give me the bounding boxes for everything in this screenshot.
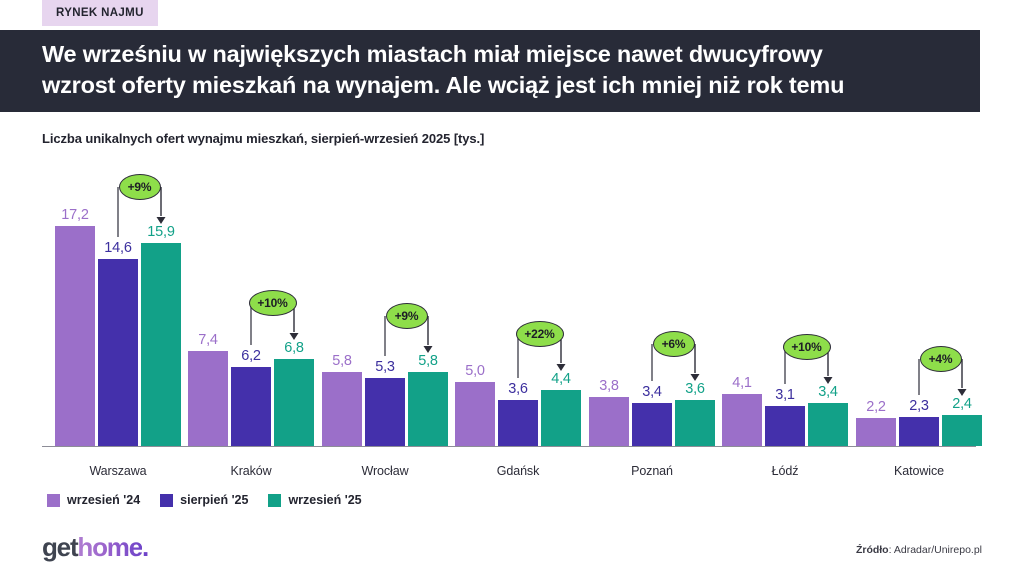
bar-column[interactable]: 5,0 bbox=[455, 194, 495, 446]
bar-value-label: 15,9 bbox=[141, 224, 181, 240]
bar[interactable] bbox=[899, 417, 939, 446]
legend-swatch-icon bbox=[160, 494, 173, 507]
legend-label: wrzesień '25 bbox=[288, 493, 361, 507]
bar-value-label: 17,2 bbox=[55, 207, 95, 223]
bar[interactable] bbox=[808, 403, 848, 446]
bar-value-label: 3,8 bbox=[589, 378, 629, 394]
bar-value-label: 2,3 bbox=[899, 398, 939, 414]
chart-subtitle: Liczba unikalnych ofert wynajmu mieszkań… bbox=[42, 131, 484, 146]
bar-column[interactable]: 3,6 bbox=[498, 194, 538, 446]
bar[interactable] bbox=[675, 400, 715, 446]
category-label: Poznań bbox=[589, 464, 715, 478]
bar-value-label: 4,1 bbox=[722, 375, 762, 391]
bar-value-label: 5,0 bbox=[455, 363, 495, 379]
bar-group: 5,85,35,8Wrocław bbox=[322, 194, 448, 446]
gethome-logo: gethome. bbox=[42, 532, 148, 563]
headline-line-2: wzrost oferty mieszkań na wynajem. Ale w… bbox=[42, 70, 938, 101]
bar[interactable] bbox=[455, 382, 495, 446]
bar-column[interactable]: 3,1 bbox=[765, 194, 805, 446]
bar-column[interactable]: 15,9 bbox=[141, 194, 181, 446]
bar-value-label: 3,4 bbox=[808, 384, 848, 400]
x-axis-line bbox=[42, 446, 976, 447]
bar-column[interactable]: 3,4 bbox=[808, 194, 848, 446]
bar-chart: 17,214,615,9Warszawa+9%7,46,26,8Kraków+1… bbox=[0, 160, 1024, 480]
bar-column[interactable]: 7,4 bbox=[188, 194, 228, 446]
bar-column[interactable]: 3,8 bbox=[589, 194, 629, 446]
headline-band: We wrześniu w największych miastach miał… bbox=[0, 30, 980, 112]
bar[interactable] bbox=[632, 403, 672, 446]
bar-value-label: 4,4 bbox=[541, 371, 581, 387]
bar[interactable] bbox=[141, 243, 181, 446]
category-label: Warszawa bbox=[55, 464, 181, 478]
source-value: : Adradar/Unirepo.pl bbox=[889, 544, 982, 556]
logo-home: home bbox=[77, 532, 142, 562]
bar[interactable] bbox=[856, 418, 896, 446]
category-label: Katowice bbox=[856, 464, 982, 478]
bar-group: 3,83,43,6Poznań bbox=[589, 194, 715, 446]
bar-column[interactable]: 5,3 bbox=[365, 194, 405, 446]
legend-swatch-icon bbox=[47, 494, 60, 507]
bar-value-label: 5,8 bbox=[322, 353, 362, 369]
legend-item[interactable]: wrzesień '24 bbox=[47, 493, 140, 507]
bar-column[interactable]: 14,6 bbox=[98, 194, 138, 446]
bar-value-label: 14,6 bbox=[98, 240, 138, 256]
bar-group-bars: 3,83,43,6 bbox=[589, 194, 715, 446]
bar[interactable] bbox=[188, 351, 228, 446]
bar[interactable] bbox=[498, 400, 538, 446]
bar-group-bars: 5,03,64,4 bbox=[455, 194, 581, 446]
category-label: Łódź bbox=[722, 464, 848, 478]
bar-value-label: 3,4 bbox=[632, 384, 672, 400]
bar-group: 17,214,615,9Warszawa bbox=[55, 194, 181, 446]
bar-group: 7,46,26,8Kraków bbox=[188, 194, 314, 446]
legend-label: wrzesień '24 bbox=[67, 493, 140, 507]
bar[interactable] bbox=[541, 390, 581, 446]
bar[interactable] bbox=[722, 394, 762, 446]
bar-column[interactable]: 5,8 bbox=[408, 194, 448, 446]
bar-value-label: 6,8 bbox=[274, 340, 314, 356]
bar-group-bars: 2,22,32,4 bbox=[856, 194, 982, 446]
bar-value-label: 5,3 bbox=[365, 359, 405, 375]
legend-item[interactable]: sierpień '25 bbox=[160, 493, 248, 507]
bar-group-bars: 17,214,615,9 bbox=[55, 194, 181, 446]
bar[interactable] bbox=[55, 226, 95, 446]
bar-column[interactable]: 17,2 bbox=[55, 194, 95, 446]
bar-value-label: 3,6 bbox=[498, 381, 538, 397]
bar-group-bars: 4,13,13,4 bbox=[722, 194, 848, 446]
source-note: Źródło: Adradar/Unirepo.pl bbox=[856, 544, 982, 556]
logo-dot: . bbox=[142, 532, 148, 562]
bar-value-label: 2,2 bbox=[856, 399, 896, 415]
bar[interactable] bbox=[231, 367, 271, 446]
category-tag: RYNEK NAJMU bbox=[42, 0, 158, 26]
bar-column[interactable]: 4,1 bbox=[722, 194, 762, 446]
infographic-root: RYNEK NAJMU We wrześniu w największych m… bbox=[0, 0, 1024, 576]
bar-column[interactable]: 2,2 bbox=[856, 194, 896, 446]
bar-column[interactable]: 2,3 bbox=[899, 194, 939, 446]
headline-line-1: We wrześniu w największych miastach miał… bbox=[42, 39, 938, 70]
bar-column[interactable]: 3,6 bbox=[675, 194, 715, 446]
category-label: Kraków bbox=[188, 464, 314, 478]
legend-label: sierpień '25 bbox=[180, 493, 248, 507]
bar-column[interactable]: 4,4 bbox=[541, 194, 581, 446]
bar-column[interactable]: 2,4 bbox=[942, 194, 982, 446]
source-label: Źródło bbox=[856, 544, 889, 556]
bar[interactable] bbox=[322, 372, 362, 446]
bar[interactable] bbox=[765, 406, 805, 446]
chart-legend: wrzesień '24sierpień '25wrzesień '25 bbox=[47, 493, 362, 507]
legend-swatch-icon bbox=[268, 494, 281, 507]
bar[interactable] bbox=[589, 397, 629, 446]
bar-column[interactable]: 5,8 bbox=[322, 194, 362, 446]
bar[interactable] bbox=[408, 372, 448, 446]
bar-column[interactable]: 6,8 bbox=[274, 194, 314, 446]
bar-group: 2,22,32,4Katowice bbox=[856, 194, 982, 446]
bar-value-label: 3,1 bbox=[765, 387, 805, 403]
bar-value-label: 5,8 bbox=[408, 353, 448, 369]
bar-value-label: 2,4 bbox=[942, 396, 982, 412]
bar-value-label: 6,2 bbox=[231, 348, 271, 364]
bar-value-label: 7,4 bbox=[188, 332, 228, 348]
bar-column[interactable]: 3,4 bbox=[632, 194, 672, 446]
logo-get: get bbox=[42, 532, 77, 562]
bar-column[interactable]: 6,2 bbox=[231, 194, 271, 446]
bar[interactable] bbox=[98, 259, 138, 446]
bar[interactable] bbox=[942, 415, 982, 446]
bar[interactable] bbox=[365, 378, 405, 446]
category-label: Gdańsk bbox=[455, 464, 581, 478]
category-label: Wrocław bbox=[322, 464, 448, 478]
bar-group-bars: 5,85,35,8 bbox=[322, 194, 448, 446]
bar-group-bars: 7,46,26,8 bbox=[188, 194, 314, 446]
bar-group: 5,03,64,4Gdańsk bbox=[455, 194, 581, 446]
bar-value-label: 3,6 bbox=[675, 381, 715, 397]
bar[interactable] bbox=[274, 359, 314, 446]
legend-item[interactable]: wrzesień '25 bbox=[268, 493, 361, 507]
bar-group: 4,13,13,4Łódź bbox=[722, 194, 848, 446]
category-tag-label: RYNEK NAJMU bbox=[56, 7, 144, 19]
